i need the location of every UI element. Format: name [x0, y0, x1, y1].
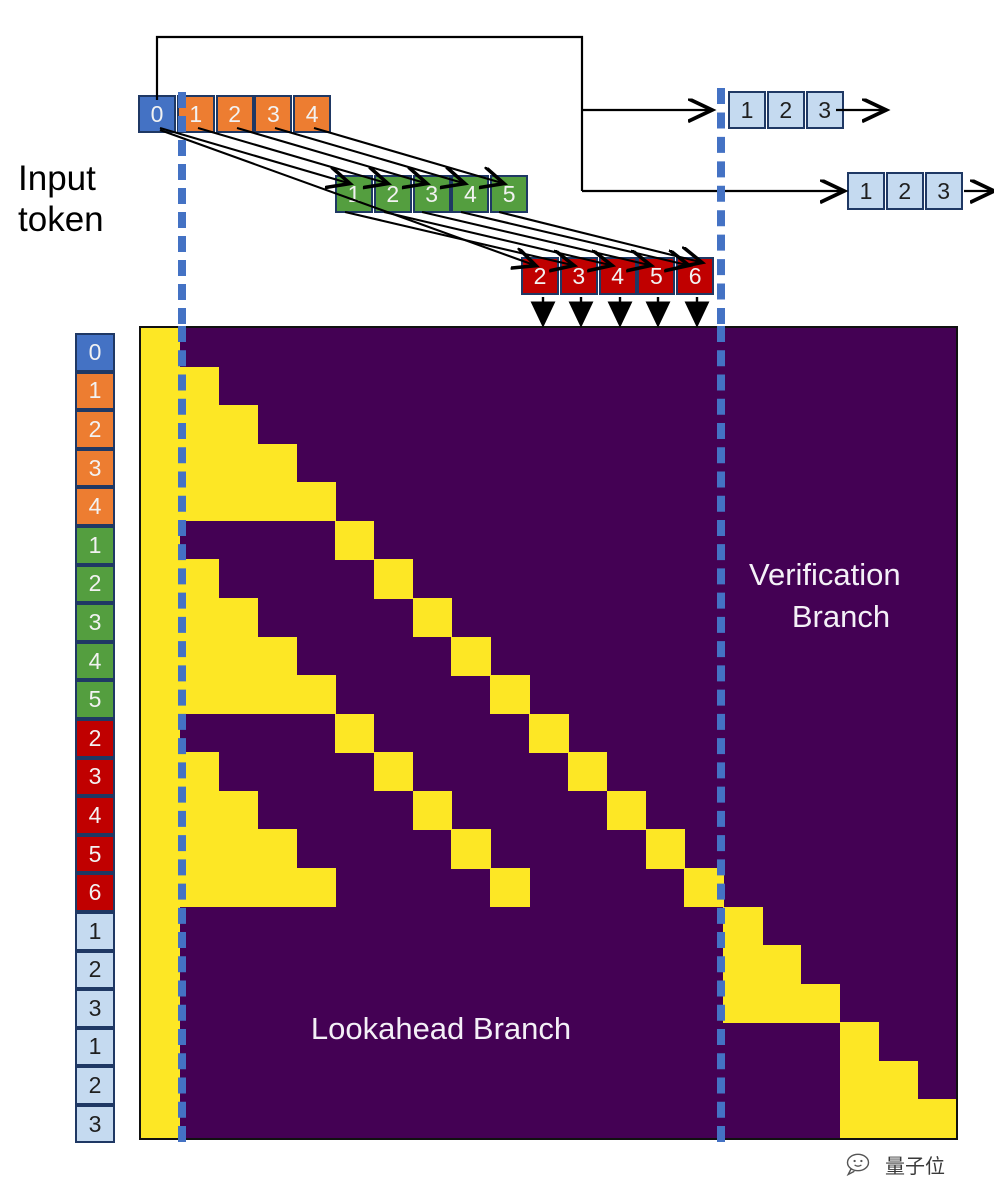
mask-cell-r8-c0: [141, 637, 297, 676]
mask-cell-r9-c0: [141, 675, 336, 714]
lookahead-l2-token-4: 5: [490, 175, 528, 213]
input-token-label-line1: Input: [18, 158, 104, 199]
matrix-row-label-14: 6: [75, 873, 115, 912]
lookahead-l2-token-3: 4: [451, 175, 489, 213]
matrix-row-label-5: 1: [75, 526, 115, 565]
matrix-row-label-12: 4: [75, 796, 115, 835]
mask-cell-r17-c15: [723, 984, 840, 1023]
mask-cell-r13-c8: [451, 829, 490, 868]
mask-cell-r5-c5: [335, 521, 374, 560]
matrix-row-label-9: 5: [75, 680, 115, 719]
wechat-icon: [846, 1152, 880, 1178]
mask-cell-r8-c8: [451, 637, 490, 676]
matrix-row-label-13: 5: [75, 835, 115, 874]
matrix-row-label-2: 2: [75, 410, 115, 449]
mask-cell-r20-c18: [840, 1099, 957, 1138]
verify-2-token-0: 1: [847, 172, 885, 210]
mask-cell-r19-c0: [141, 1061, 180, 1100]
input-row-token-2: 2: [216, 95, 254, 133]
verify-2-token-1: 2: [886, 172, 924, 210]
lookahead-l3-token-3: 5: [637, 257, 675, 295]
matrix-row-label-6: 2: [75, 565, 115, 604]
mask-cell-r10-c5: [335, 714, 374, 753]
matrix-row-label-15: 1: [75, 912, 115, 951]
mask-cell-r7-c7: [413, 598, 452, 637]
mask-cell-r16-c15: [723, 945, 801, 984]
mask-cell-r3-c0: [141, 444, 297, 483]
verification-branch-label: Verification Branch: [749, 554, 958, 638]
mask-cell-r12-c7: [413, 791, 452, 830]
mask-cell-r16-c0: [141, 945, 180, 984]
input-row-token-3: 3: [254, 95, 292, 133]
matrix-row-label-8: 4: [75, 642, 115, 681]
lookahead-branch-label: Lookahead Branch: [246, 1008, 636, 1050]
watermark-text: 量子位: [885, 1150, 945, 1179]
mask-cell-r2-c0: [141, 405, 258, 444]
matrix-row-label-17: 3: [75, 989, 115, 1028]
matrix-row-label-4: 4: [75, 487, 115, 526]
mask-cell-r15-c15: [723, 907, 762, 946]
lookahead-l3-token-2: 4: [599, 257, 637, 295]
lookahead-l3-token-0: 2: [521, 257, 559, 295]
mask-cell-r14-c9: [490, 868, 529, 907]
matrix-row-label-0: 0: [75, 333, 115, 372]
lookahead-l2-token-0: 1: [335, 175, 373, 213]
figure-canvas: Input token 01234 12345 23456 123 123 01…: [0, 0, 994, 1200]
mask-cell-r14-c0: [141, 868, 336, 907]
mask-cell-r12-c0: [141, 791, 258, 830]
matrix-row-label-18: 1: [75, 1028, 115, 1067]
mask-cell-r10-c10: [529, 714, 568, 753]
verify-1-token-2: 3: [806, 91, 844, 129]
mask-cell-r19-c18: [840, 1061, 918, 1100]
input-row-token-0: 0: [138, 95, 176, 133]
input-row-token-4: 4: [293, 95, 331, 133]
mask-cell-r13-c13: [646, 829, 685, 868]
attention-mask-matrix: Lookahead Branch Verification Branch: [139, 326, 958, 1140]
verification-branch-label-line2: Branch: [749, 596, 958, 638]
verify-1-token-1: 2: [767, 91, 805, 129]
mask-cell-r5-c0: [141, 521, 180, 560]
separator-lookahead-boundary-matrix: [178, 326, 186, 1142]
lookahead-l3-token-1: 3: [560, 257, 598, 295]
mask-cell-r20-c0: [141, 1099, 180, 1138]
mask-cell-r12-c12: [607, 791, 646, 830]
input-token-label-line2: token: [18, 199, 104, 240]
matrix-row-label-20: 3: [75, 1105, 115, 1144]
matrix-row-labels: 012341234523456123123: [75, 333, 115, 1143]
mask-cell-r6-c6: [374, 559, 413, 598]
lookahead-l2-token-2: 3: [413, 175, 451, 213]
matrix-row-label-19: 2: [75, 1066, 115, 1105]
verify-1-token-0: 1: [728, 91, 766, 129]
mask-cell-r4-c0: [141, 482, 336, 521]
mask-cell-r11-c11: [568, 752, 607, 791]
separator-verification-boundary-matrix: [717, 326, 725, 1142]
lookahead-l3-token-4: 6: [676, 257, 714, 295]
lookahead-l2-token-1: 2: [374, 175, 412, 213]
verification-branch-label-line1: Verification: [749, 554, 958, 596]
matrix-row-label-10: 2: [75, 719, 115, 758]
mask-cell-r13-c0: [141, 829, 297, 868]
matrix-row-label-7: 3: [75, 603, 115, 642]
matrix-row-label-3: 3: [75, 449, 115, 488]
mask-cell-r17-c0: [141, 984, 180, 1023]
separator-lookahead-boundary-upper: [178, 92, 186, 324]
mask-cell-r11-c6: [374, 752, 413, 791]
mask-cell-r10-c0: [141, 714, 180, 753]
watermark: 量子位: [846, 1150, 945, 1179]
mask-cell-r18-c18: [840, 1022, 879, 1061]
mask-cell-r7-c0: [141, 598, 258, 637]
separator-verification-boundary-upper: [717, 88, 725, 324]
matrix-row-label-11: 3: [75, 758, 115, 797]
mask-cell-r18-c0: [141, 1022, 180, 1061]
mask-cell-r9-c9: [490, 675, 529, 714]
verify-2-token-2: 3: [925, 172, 963, 210]
mask-cell-r0-c0: [141, 328, 180, 367]
mask-cell-r15-c0: [141, 907, 180, 946]
matrix-row-label-16: 2: [75, 951, 115, 990]
matrix-row-label-1: 1: [75, 372, 115, 411]
input-token-label: Input token: [18, 158, 104, 241]
